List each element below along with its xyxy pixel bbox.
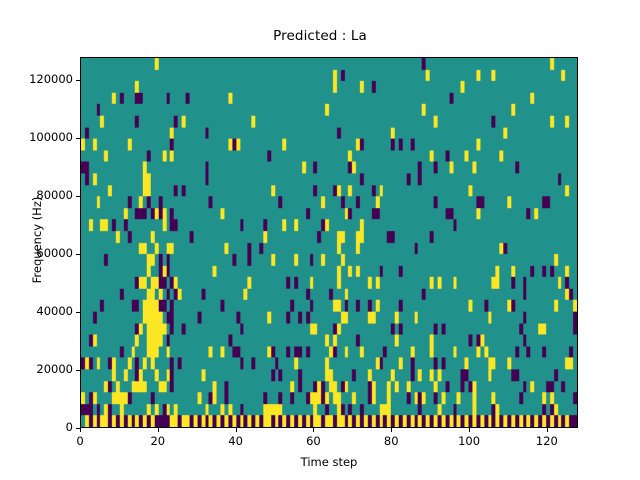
- x-tick-label: 20: [128, 434, 188, 448]
- y-axis-label: Frequency (Hz): [30, 75, 44, 405]
- chart-title: Predicted : La: [0, 28, 640, 44]
- x-tick-label: 60: [283, 434, 343, 448]
- x-tick-mark: [547, 428, 548, 432]
- y-tick-mark: [76, 428, 80, 429]
- x-tick-mark: [158, 428, 159, 432]
- x-axis-label: Time step: [80, 455, 578, 469]
- x-tick-mark: [236, 428, 237, 432]
- x-tick-mark: [313, 428, 314, 432]
- x-tick-label: 100: [439, 434, 499, 448]
- x-tick-mark: [391, 428, 392, 432]
- heatmap-grid: [81, 58, 577, 427]
- x-tick-label: 40: [206, 434, 266, 448]
- x-tick-label: 0: [50, 434, 110, 448]
- x-tick-mark: [469, 428, 470, 432]
- x-tick-label: 120: [517, 434, 577, 448]
- heatmap-axes: [80, 57, 578, 428]
- matplotlib-figure: Predicted : La 0200004000060000800001000…: [0, 0, 640, 480]
- x-tick-label: 80: [361, 434, 421, 448]
- x-tick-mark: [80, 428, 81, 432]
- y-tick-label: 0: [0, 420, 73, 434]
